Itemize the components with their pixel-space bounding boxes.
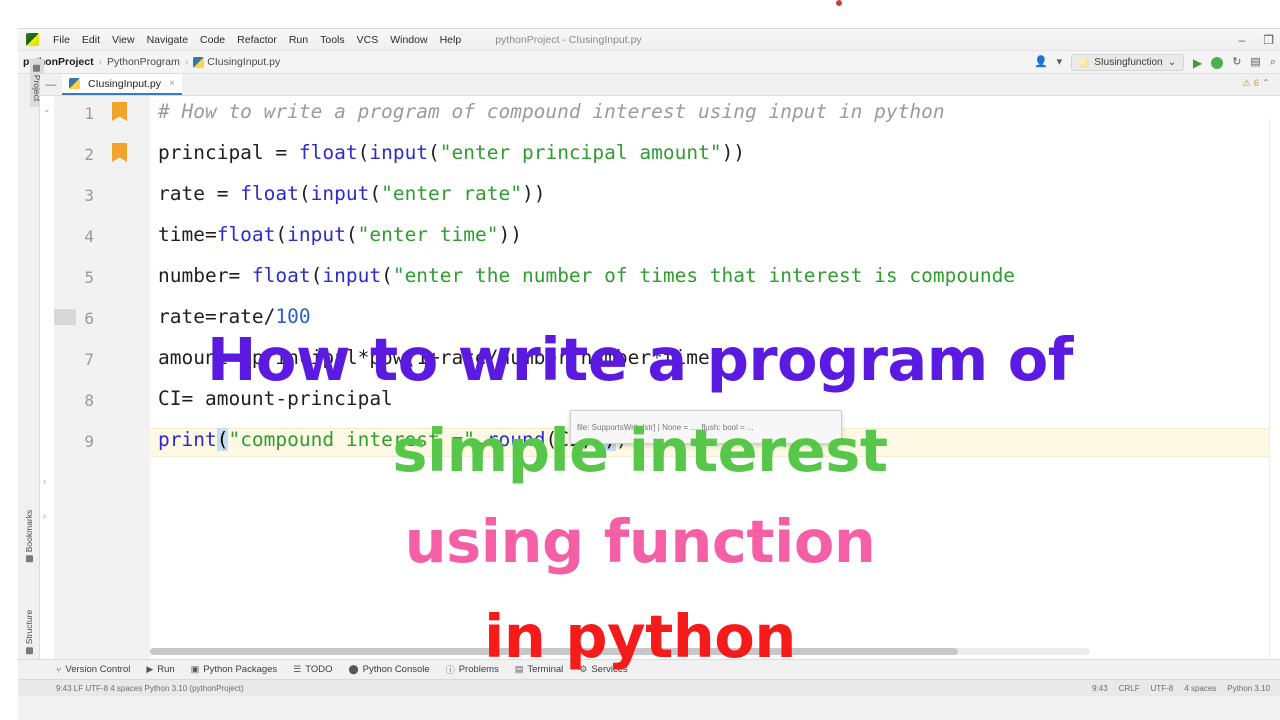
status-indicators: 9:43 CRLF UTF-8 4 spaces Python 3.10 xyxy=(1092,684,1270,693)
recording-dot xyxy=(836,0,842,6)
token: ( xyxy=(358,141,370,164)
run-button-icon[interactable]: ▶ xyxy=(1193,57,1202,69)
editor-tab-label: CIusingInput.py xyxy=(88,78,161,90)
status-interpreter[interactable]: Python 3.10 xyxy=(1227,684,1270,693)
code-text[interactable]: # How to write a program of compound int… xyxy=(150,96,1280,659)
token: input xyxy=(311,182,370,205)
coverage-button-icon[interactable]: ↻ xyxy=(1232,57,1241,68)
token: , xyxy=(475,428,487,451)
code-line-7[interactable]: amount= principal*pow(1+rate/number,numb… xyxy=(158,348,722,368)
sidebar-item-structure-label: Structure xyxy=(24,610,34,645)
token: float xyxy=(252,264,311,287)
breadcrumb-separator-2: › xyxy=(185,57,188,68)
tool-label: TODO xyxy=(305,664,332,675)
editor-column: — CIusingInput.py × ⌄ › › xyxy=(40,74,1280,659)
code-line-8[interactable]: CI= amount-principal xyxy=(158,389,393,409)
fold-gutter[interactable]: ⌄ › › xyxy=(40,96,54,659)
left-tool-rail: Project Bookmarks Structure xyxy=(18,74,40,659)
tool-python-console[interactable]: ⬤Python Console xyxy=(349,664,430,675)
menu-navigate[interactable]: Navigate xyxy=(141,32,194,48)
code-line-9[interactable]: print("compound interest =",round(CI,2)) xyxy=(158,430,628,450)
token: rate=rate/ xyxy=(158,305,275,328)
chevron-up-icon[interactable]: ⌃ xyxy=(1262,78,1270,89)
tool-label: Python Packages xyxy=(203,664,277,675)
line-number: 1 xyxy=(54,104,94,123)
line-number: 8 xyxy=(54,391,94,410)
token: ( xyxy=(381,264,393,287)
tool-window-bar: ⑂Version Control ▶Run ▣Python Packages ☰… xyxy=(18,659,1280,679)
token: )) xyxy=(499,223,522,246)
line-number: 5 xyxy=(54,268,94,287)
line-number: 3 xyxy=(54,186,94,205)
warning-icon: ⚠ xyxy=(1242,78,1251,89)
token: input xyxy=(322,264,381,287)
services-icon: ⚙ xyxy=(579,664,587,675)
editor-tab-ciusinginput[interactable]: CIusingInput.py × xyxy=(62,74,182,95)
collapse-tabs-icon[interactable]: — xyxy=(40,74,62,95)
pycharm-window: File Edit View Navigate Code Refactor Ru… xyxy=(18,28,1280,720)
todo-icon: ☰ xyxy=(293,664,301,675)
code-line-2[interactable]: principal = float(input("enter principal… xyxy=(158,143,745,163)
line-number: 2 xyxy=(54,145,94,164)
menu-vcs[interactable]: VCS xyxy=(351,32,385,48)
menu-window[interactable]: Window xyxy=(384,32,433,48)
ide-body: Project Bookmarks Structure — CIusi xyxy=(18,74,1280,659)
python-file-icon xyxy=(193,57,204,68)
tool-label: Terminal xyxy=(527,664,563,675)
token: number= xyxy=(158,264,252,287)
menu-help[interactable]: Help xyxy=(434,32,468,48)
menu-run[interactable]: Run xyxy=(283,32,314,48)
line-number: 9 xyxy=(54,432,94,451)
maximize-button[interactable]: ❐ xyxy=(1263,34,1274,46)
fold-marker-2[interactable]: › xyxy=(43,476,46,486)
token: ( xyxy=(311,264,323,287)
fold-marker-3[interactable]: › xyxy=(43,511,46,521)
screen-root: File Edit View Navigate Code Refactor Ru… xyxy=(0,0,1280,720)
token: float xyxy=(240,182,299,205)
bookmark-icon[interactable] xyxy=(112,102,127,121)
tool-run[interactable]: ▶Run xyxy=(146,664,174,675)
parameter-info-text: file: SupportsWrite[str] | None = ..., f… xyxy=(577,423,754,432)
pycharm-logo-icon xyxy=(26,33,39,46)
structure-icon xyxy=(25,647,32,654)
problems-icon: ⓘ xyxy=(446,663,455,676)
breadcrumb-file[interactable]: CIusingInput.py xyxy=(207,56,280,68)
token: amount= principal*pow(1+rate/number,numb… xyxy=(158,346,722,369)
code-line-4[interactable]: time=float(input("enter time")) xyxy=(158,225,522,245)
token: input xyxy=(287,223,346,246)
token: = xyxy=(275,141,298,164)
stop-button-icon[interactable]: ▤ xyxy=(1250,57,1260,68)
tool-label: Run xyxy=(157,664,174,675)
tool-terminal[interactable]: ▤Terminal xyxy=(515,664,563,675)
line-number: 4 xyxy=(54,227,94,246)
run-config-icon xyxy=(1079,58,1089,68)
comment-token: # How to write a program of compound int… xyxy=(158,100,945,123)
menu-bar: File Edit View Navigate Code Refactor Ru… xyxy=(18,29,1280,51)
run-icon: ▶ xyxy=(146,664,153,675)
tool-label: Problems xyxy=(459,664,499,675)
token: rate xyxy=(158,182,217,205)
navigation-bar: pythonProject › PythonProgram › CIusingI… xyxy=(18,51,1280,74)
project-icon xyxy=(33,65,40,72)
tool-services[interactable]: ⚙Services xyxy=(579,664,628,675)
account-icon[interactable]: 👤 xyxy=(1034,57,1048,68)
tool-todo[interactable]: ☰TODO xyxy=(293,664,332,675)
status-encoding[interactable]: UTF-8 xyxy=(1151,684,1174,693)
token: "enter time" xyxy=(358,223,499,246)
status-message: 9:43 LF UTF-8 4 spaces Python 3.10 (pyth… xyxy=(56,684,244,693)
code-area[interactable]: ⌄ › › 1 2 3 4 5 6 7 8 9 xyxy=(40,96,1280,659)
line-number-gutter[interactable]: 1 2 3 4 5 6 7 8 9 xyxy=(54,96,150,659)
tool-label: Services xyxy=(591,664,627,675)
code-line-1[interactable]: # How to write a program of compound int… xyxy=(158,102,945,122)
tool-problems[interactable]: ⓘProblems xyxy=(446,663,499,676)
minimize-button[interactable]: – xyxy=(1239,34,1246,46)
search-icon[interactable]: ⌕ xyxy=(1270,57,1276,68)
close-icon[interactable]: × xyxy=(169,78,175,89)
token: "enter rate" xyxy=(381,182,522,205)
python-file-icon xyxy=(69,78,80,89)
breadcrumb-separator-1: › xyxy=(99,57,102,68)
sidebar-item-bookmarks[interactable]: Bookmarks xyxy=(24,510,34,563)
editor-tab-strip: — CIusingInput.py × xyxy=(40,74,1280,96)
token: ( xyxy=(369,182,381,205)
account-caret-icon[interactable]: ▾ xyxy=(1057,57,1063,68)
token: CI= amount-principal xyxy=(158,387,393,410)
version-control-icon: ⑂ xyxy=(56,665,61,675)
bookmarks-icon xyxy=(25,555,32,562)
inspection-count: 6 xyxy=(1254,78,1259,89)
token: "enter principal amount" xyxy=(440,141,722,164)
menu-refactor[interactable]: Refactor xyxy=(231,32,283,48)
menu-tools[interactable]: Tools xyxy=(314,32,351,48)
token: ( xyxy=(299,182,311,205)
tool-label: Version Control xyxy=(65,664,130,675)
token: )) xyxy=(522,182,545,205)
token: ( xyxy=(346,223,358,246)
token: ( xyxy=(275,223,287,246)
token: = xyxy=(217,182,240,205)
token: )) xyxy=(722,141,745,164)
packages-icon: ▣ xyxy=(191,664,200,675)
tool-label: Python Console xyxy=(363,664,430,675)
run-configuration-selector[interactable]: SIusingfunction ⌄ xyxy=(1071,54,1184,71)
window-title: pythonProject - CIusingInput.py xyxy=(495,34,642,46)
inspection-widget[interactable]: ⚠ 6 ⌃ xyxy=(1242,78,1270,89)
token: ( xyxy=(428,141,440,164)
debug-button-icon[interactable] xyxy=(1211,57,1223,69)
status-bar: 9:43 LF UTF-8 4 spaces Python 3.10 (pyth… xyxy=(18,679,1280,696)
window-controls: – ❐ xyxy=(1239,29,1274,51)
status-line-separator[interactable]: CRLF xyxy=(1119,684,1140,693)
token: "compound interest =" xyxy=(228,428,475,451)
bookmark-icon[interactable] xyxy=(112,143,127,162)
horizontal-scrollbar[interactable] xyxy=(150,648,1090,655)
console-icon: ⬤ xyxy=(349,664,359,675)
menu-file[interactable]: File xyxy=(47,32,76,48)
line-number: 6 xyxy=(54,309,94,328)
line-number: 7 xyxy=(54,350,94,369)
code-line-6[interactable]: rate=rate/100 xyxy=(158,307,311,327)
breadcrumb-folder[interactable]: PythonProgram xyxy=(107,56,180,68)
code-line-5[interactable]: number= float(input("enter the number of… xyxy=(158,266,1015,286)
parameter-info-tooltip: file: SupportsWrite[str] | None = ..., f… xyxy=(570,410,842,444)
token: 100 xyxy=(275,305,310,328)
terminal-icon: ▤ xyxy=(515,664,524,675)
menu-edit[interactable]: Edit xyxy=(76,32,106,48)
tool-python-packages[interactable]: ▣Python Packages xyxy=(191,664,277,675)
run-config-label: SIusingfunction xyxy=(1094,57,1162,68)
token: principal xyxy=(158,141,275,164)
chevron-down-icon: ⌄ xyxy=(1168,57,1176,68)
sidebar-item-structure[interactable]: Structure xyxy=(24,610,34,655)
token: round xyxy=(487,428,546,451)
toolbar-right: 👤 ▾ SIusingfunction ⌄ ▶ ↻ ▤ ⌕ xyxy=(1034,51,1276,74)
token: "enter the number of times that interest… xyxy=(393,264,1015,287)
status-indent[interactable]: 4 spaces xyxy=(1184,684,1216,693)
sidebar-item-bookmarks-label: Bookmarks xyxy=(24,510,34,553)
status-caret-position[interactable]: 9:43 xyxy=(1092,684,1108,693)
fold-marker-1[interactable]: ⌄ xyxy=(43,104,51,115)
code-line-3[interactable]: rate = float(input("enter rate")) xyxy=(158,184,545,204)
menu-view[interactable]: View xyxy=(106,32,141,48)
token: float xyxy=(299,141,358,164)
token: float xyxy=(217,223,276,246)
token: ( xyxy=(217,428,229,451)
editor-scrollbar[interactable] xyxy=(1269,118,1280,659)
token: time= xyxy=(158,223,217,246)
token: input xyxy=(369,141,428,164)
tool-version-control[interactable]: ⑂Version Control xyxy=(56,664,130,675)
token: print xyxy=(158,428,217,451)
menu-code[interactable]: Code xyxy=(194,32,231,48)
